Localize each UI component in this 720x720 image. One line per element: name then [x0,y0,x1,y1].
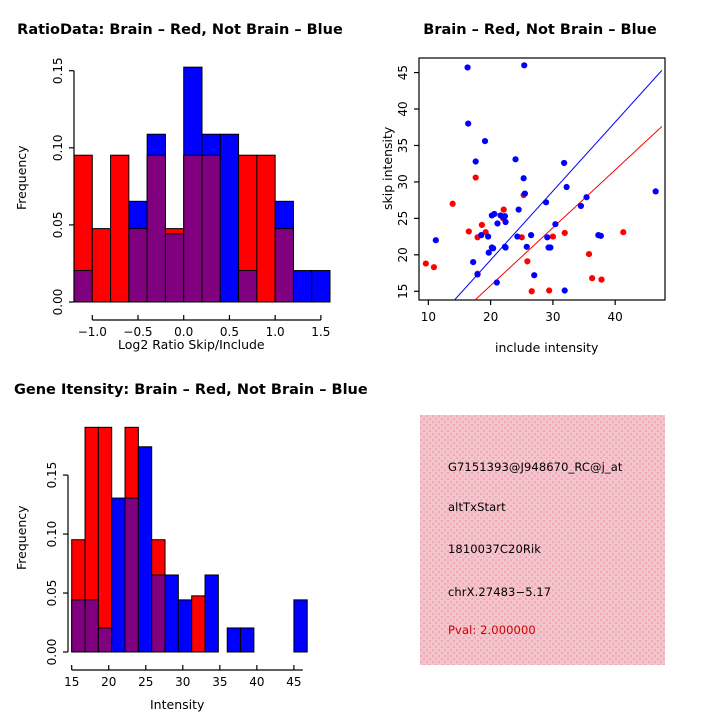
x-tick-label: 40 [249,675,264,689]
scatter-point [547,244,553,250]
hist-bar [111,155,129,302]
panel-ratio-histogram: RatioData: Brain – Red, Not Brain – Blue… [0,0,360,360]
hist-bar [220,134,238,302]
scatter-point [544,234,550,240]
y-tick-label: 0.05 [45,580,59,607]
x-tick-label: 15 [64,675,79,689]
y-tick-label: 35 [396,138,410,153]
scatter-point [479,222,485,228]
scatter-point [423,260,429,266]
scatter-point [431,264,437,270]
scatter-point [598,233,604,239]
x-tick-label: −0.5 [123,325,152,339]
y-tick-label: 25 [396,211,410,226]
x-tick-label: 30 [175,675,190,689]
y-tick-label: 0.00 [45,639,59,666]
pvalue-text: Pval: 2.000000 [448,623,536,637]
gene-hist-canvas: 0.000.050.100.1515202530354045 [0,360,360,720]
x-tick-label: 0.0 [174,325,193,339]
x-tick-label: 20 [483,310,498,324]
plot-frame [419,58,665,300]
hist-bar [138,447,151,652]
y-tick-label: 0.05 [51,212,65,239]
hist-bar-overlap [202,155,220,302]
hist-bar [312,271,330,302]
scatter-point [474,271,480,277]
scatter-point [562,230,568,236]
hist-bar [165,575,178,652]
x-tick-label: −1.0 [78,325,107,339]
x-tick-label: 1.0 [266,325,285,339]
hist-bar-overlap [129,229,147,302]
scatter-point [501,207,507,213]
scatter-point [524,258,530,264]
scatter-point [490,245,496,251]
hist-bar [98,427,111,652]
scatter-point [502,213,508,219]
panel-annotation: G7151393@J948670_RC@j_at altTxStart 1810… [360,360,720,720]
y-tick-label: 0.10 [45,521,59,548]
scatter-point [550,233,556,239]
hist-bar-overlap [72,600,85,652]
scatter-point [465,121,471,127]
scatter-point [478,232,484,238]
scatter-point [531,272,537,278]
y-tick-label: 0.10 [51,134,65,161]
scatter-canvas: 1520253035404510203040 [360,0,720,360]
hist-bar-overlap [147,155,165,302]
y-tick-label: 20 [396,247,410,262]
hist-bar-overlap [152,575,165,652]
scatter-point [466,228,472,234]
scatter-point [653,188,659,194]
scatter-point [521,175,527,181]
scatter-point [552,221,558,227]
scatter-point [494,220,500,226]
locus-text: chrX.27483−5.17 [448,585,551,599]
hist-bar-overlap [184,155,202,302]
x-tick-label: 35 [212,675,227,689]
scatter-point [516,207,522,213]
scatter-point [450,201,456,207]
hist-bar [178,600,191,652]
scatter-point [494,279,500,285]
y-tick-label: 40 [396,101,410,116]
scatter-point [546,287,552,293]
y-tick-label: 45 [396,65,410,80]
scatter-point [598,276,604,282]
r-plot-figure: RatioData: Brain – Red, Not Brain – Blue… [0,0,720,720]
hist-bar-overlap [85,600,98,652]
scatter-point [502,244,508,250]
scatter-point [464,64,470,70]
scatter-point [543,199,549,205]
hist-bar-overlap [239,271,257,302]
hist-bar-overlap [74,271,92,302]
scatter-point [522,190,528,196]
scatter-point [521,62,527,68]
x-tick-label: 0.5 [220,325,239,339]
scatter-point [586,251,592,257]
scatter-point [578,203,584,209]
hist-bar-overlap [125,498,138,652]
gene-symbol-text: 1810037C20Rik [448,542,541,556]
hist-bar-overlap [275,229,293,302]
scatter-point [528,232,534,238]
scatter-point [482,138,488,144]
y-tick-label: 0.00 [51,289,65,316]
scatter-point [524,244,530,250]
hist-bar [92,229,110,302]
scatter-point [561,160,567,166]
scatter-point [470,259,476,265]
scatter-point [502,219,508,225]
event-type-text: altTxStart [448,500,506,514]
hist-bar [294,600,307,652]
x-tick-label: 1.5 [311,325,330,339]
probe-id-text: G7151393@J948670_RC@j_at [448,460,623,474]
hist-bar [112,498,125,652]
y-tick-label: 30 [396,174,410,189]
hist-bar-overlap [98,628,111,652]
panel-intensity-scatter: Brain – Red, Not Brain – Blue skip inten… [360,0,720,360]
scatter-point [485,233,491,239]
scatter-point [562,287,568,293]
scatter-point [473,174,479,180]
scatter-point [512,156,518,162]
scatter-point [514,233,520,239]
hist-bar-overlap [165,234,183,302]
hist-bar [227,628,240,652]
annotation-box: G7151393@J948670_RC@j_at altTxStart 1810… [420,415,665,665]
scatter-point [620,229,626,235]
hist-bar [205,575,218,652]
scatter-point [491,211,497,217]
scatter-point [589,275,595,281]
hist-bar [257,155,275,302]
x-tick-label: 30 [545,310,560,324]
y-tick-label: 15 [396,284,410,299]
panel-gene-histogram: Gene Itensity: Brain – Red, Not Brain – … [0,360,360,720]
scatter-point [583,194,589,200]
x-tick-label: 45 [286,675,301,689]
scatter-point [473,158,479,164]
x-tick-label: 20 [101,675,116,689]
ratio-hist-canvas: 0.000.050.100.15−1.0−0.50.00.51.01.5 [0,0,360,360]
reference-line [454,70,661,300]
scatter-layer [423,62,662,300]
x-tick-label: 40 [608,310,623,324]
hist-bar [192,596,205,652]
scatter-point [433,237,439,243]
x-tick-label: 25 [138,675,153,689]
reference-line [475,127,662,300]
x-tick-label: 10 [421,310,436,324]
y-tick-label: 0.15 [51,57,65,84]
hist-bar [293,271,311,302]
scatter-point [564,184,570,190]
scatter-point [529,288,535,294]
y-tick-label: 0.15 [45,462,59,489]
hist-bar [241,628,254,652]
